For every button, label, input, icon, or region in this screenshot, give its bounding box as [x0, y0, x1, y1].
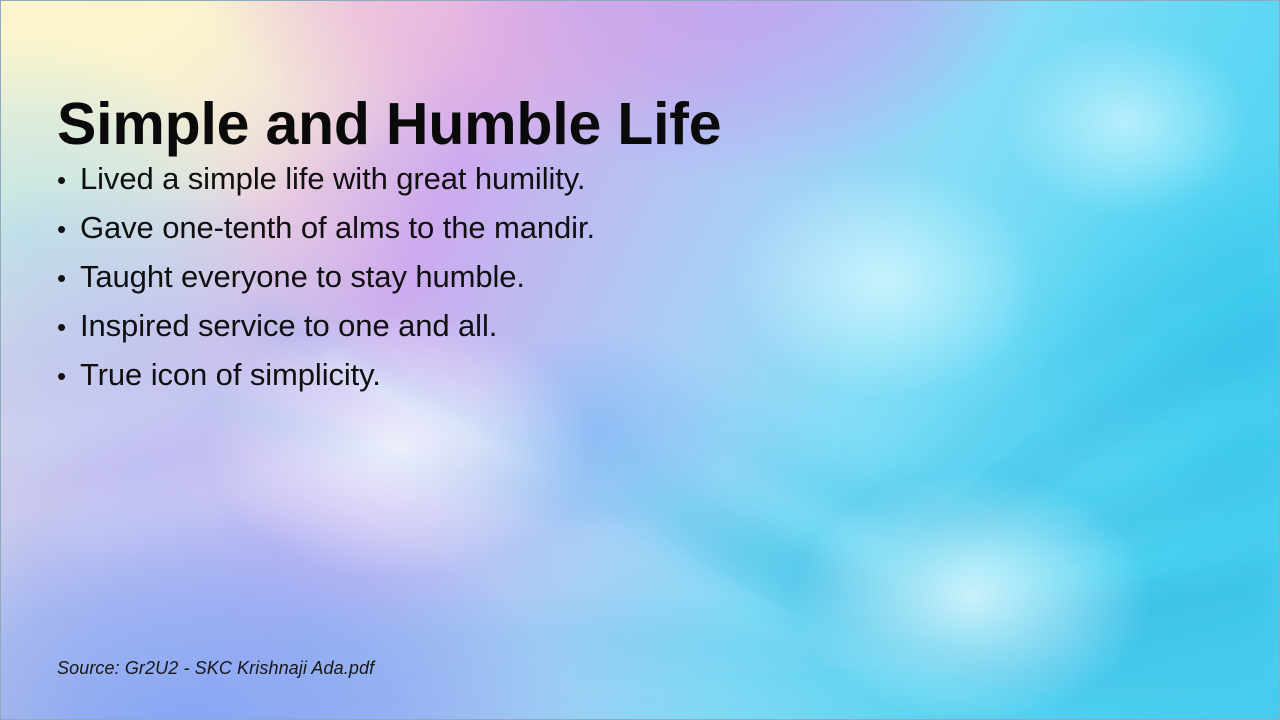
- list-item-label: Taught everyone to stay humble.: [80, 253, 877, 300]
- list-item: • Lived a simple life with great humilit…: [57, 155, 877, 204]
- page-title: Simple and Humble Life: [57, 93, 721, 157]
- slide-canvas: Simple and Humble Life • Lived a simple …: [0, 0, 1280, 720]
- bullet-point-icon: •: [57, 157, 80, 204]
- list-item-label: Gave one-tenth of alms to the mandir.: [80, 204, 877, 251]
- list-item: • Gave one-tenth of alms to the mandir.: [57, 204, 877, 253]
- bullet-point-icon: •: [57, 353, 80, 400]
- source-note: Source: Gr2U2 - SKC Krishnaji Ada.pdf: [57, 658, 374, 679]
- list-item: • Taught everyone to stay humble.: [57, 253, 877, 302]
- bullet-point-icon: •: [57, 304, 80, 351]
- list-item-label: True icon of simplicity.: [80, 351, 877, 398]
- bullet-point-icon: •: [57, 255, 80, 302]
- list-item-label: Lived a simple life with great humility.: [80, 155, 877, 202]
- bullet-point-icon: •: [57, 206, 80, 253]
- bullet-list: • Lived a simple life with great humilit…: [57, 155, 877, 400]
- list-item: • True icon of simplicity.: [57, 351, 877, 400]
- list-item: • Inspired service to one and all.: [57, 302, 877, 351]
- slide-content: Simple and Humble Life • Lived a simple …: [1, 1, 1279, 719]
- list-item-label: Inspired service to one and all.: [80, 302, 877, 349]
